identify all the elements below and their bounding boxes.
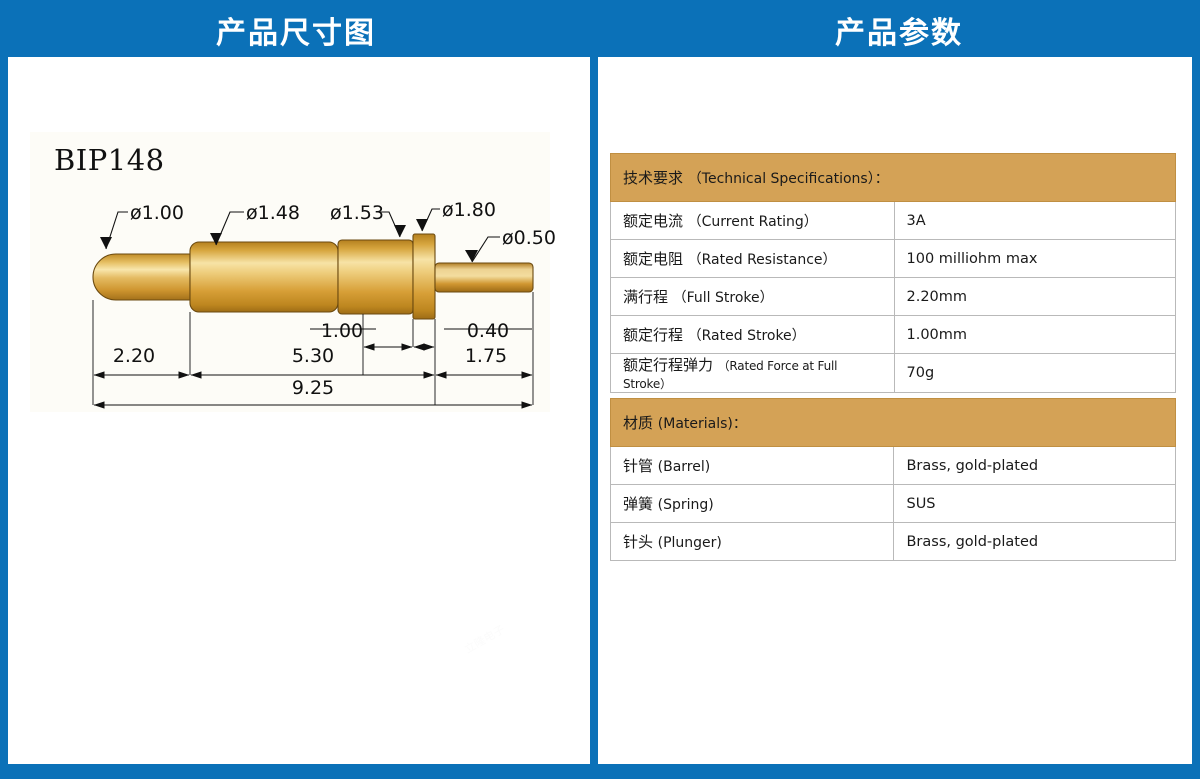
- dim-text-tail: 1.75: [465, 345, 507, 367]
- page-background: 产品尺寸图 产品参数 BIP148: [0, 0, 1200, 779]
- technical-header-en: （Technical Specifications）：: [688, 171, 889, 187]
- spec-value-cell: Brass, gold-plated: [894, 523, 1176, 561]
- callout-text-d153: ø1.53: [330, 202, 384, 224]
- spec-label-cell: 弹簧 (Spring): [611, 485, 894, 523]
- spec-label-en: （Full Stroke）: [673, 290, 774, 306]
- table-row: 弹簧 (Spring)SUS: [611, 485, 1176, 523]
- spec-label-cell: 额定行程 （Rated Stroke）: [611, 316, 895, 354]
- spec-value-cell: 100 milliohm max: [894, 240, 1176, 278]
- spec-value-cell: SUS: [894, 485, 1176, 523]
- spec-value-cell: 3A: [894, 202, 1176, 240]
- technical-drawing-svg: ø1.00 ø1.48 ø1.53 ø1.80 ø0.50: [8, 57, 590, 764]
- materials-table-body: 材质 (Materials)： 针管 (Barrel)Brass, gold-p…: [611, 399, 1176, 561]
- table-row: 针管 (Barrel)Brass, gold-plated: [611, 447, 1176, 485]
- technical-specifications-table: 技术要求 （Technical Specifications）： 额定电流 （C…: [610, 153, 1176, 393]
- callout-text-d100: ø1.00: [130, 202, 184, 224]
- technical-table-header-row: 技术要求 （Technical Specifications）：: [611, 154, 1176, 202]
- spec-label-cn: 额定行程: [623, 326, 683, 344]
- table-row: 额定电流 （Current Rating）3A: [611, 202, 1176, 240]
- technical-table-header-cell: 技术要求 （Technical Specifications）：: [611, 154, 1176, 202]
- table-row: 针头 (Plunger)Brass, gold-plated: [611, 523, 1176, 561]
- spec-label-en: (Barrel): [658, 459, 711, 475]
- materials-table-header-cell: 材质 (Materials)：: [611, 399, 1176, 447]
- dim-text-flange: 0.40: [467, 320, 509, 342]
- spec-label-cn: 额定电阻: [623, 250, 683, 268]
- spec-value-cell: Brass, gold-plated: [894, 447, 1176, 485]
- spec-label-cell: 满行程 （Full Stroke）: [611, 278, 895, 316]
- spec-label-cn: 弹簧: [623, 495, 653, 513]
- drawing-area: BIP148: [8, 57, 590, 764]
- table-row: 满行程 （Full Stroke）2.20mm: [611, 278, 1176, 316]
- table-row: 额定行程 （Rated Stroke）1.00mm: [611, 316, 1176, 354]
- dim-text-stroke: 1.00: [321, 320, 363, 342]
- table-row: 额定电阻 （Rated Resistance）100 milliohm max: [611, 240, 1176, 278]
- spec-value-cell: 2.20mm: [894, 278, 1176, 316]
- callout-text-d180: ø1.80: [442, 199, 496, 221]
- dimension-drawing-panel: BIP148: [8, 57, 590, 764]
- spec-label-cell: 额定电阻 （Rated Resistance）: [611, 240, 895, 278]
- dim-text-overall: 9.25: [292, 377, 334, 399]
- table-row: 额定行程弹力 （Rated Force at Full Stroke）70g: [611, 354, 1176, 393]
- materials-header-en: (Materials)：: [658, 416, 747, 432]
- header-title-parameters: 产品参数: [598, 8, 1200, 52]
- dim-text-barrel: 5.30: [292, 345, 334, 367]
- callout-text-d050: ø0.50: [502, 227, 556, 249]
- materials-table-header-row: 材质 (Materials)：: [611, 399, 1176, 447]
- spec-label-cn: 满行程: [623, 288, 668, 306]
- spec-label-cell: 额定行程弹力 （Rated Force at Full Stroke）: [611, 354, 895, 393]
- spec-label-en: （Rated Stroke）: [688, 328, 806, 344]
- spec-label-en: （Rated Resistance）: [688, 252, 837, 268]
- spec-value-cell: 1.00mm: [894, 316, 1176, 354]
- spec-label-cell: 额定电流 （Current Rating）: [611, 202, 895, 240]
- technical-table-body: 技术要求 （Technical Specifications）： 额定电流 （C…: [611, 154, 1176, 393]
- header-title-dimensions: 产品尺寸图: [0, 8, 592, 52]
- callout-text-d148: ø1.48: [246, 202, 300, 224]
- spec-label-cn: 额定行程弹力: [623, 356, 713, 374]
- spec-value-cell: 70g: [894, 354, 1176, 393]
- materials-table: 材质 (Materials)： 针管 (Barrel)Brass, gold-p…: [610, 398, 1176, 561]
- dim-text-plunger: 2.20: [113, 345, 155, 367]
- materials-header-cn: 材质: [623, 414, 653, 432]
- spec-label-cn: 额定电流: [623, 212, 683, 230]
- header-band: 产品尺寸图 产品参数: [0, 0, 1200, 56]
- pogo-pin-geometry: [93, 234, 533, 319]
- spec-label-en: (Spring): [658, 497, 714, 513]
- spec-label-cn: 针头: [623, 533, 653, 551]
- spec-label-en: （Current Rating）: [688, 214, 818, 230]
- spec-label-cn: 针管: [623, 457, 653, 475]
- parameters-panel: 技术要求 （Technical Specifications）： 额定电流 （C…: [598, 57, 1192, 764]
- spec-label-en: (Plunger): [658, 535, 722, 551]
- spec-label-cell: 针头 (Plunger): [611, 523, 894, 561]
- spec-label-cell: 针管 (Barrel): [611, 447, 894, 485]
- technical-header-cn: 技术要求: [623, 169, 683, 187]
